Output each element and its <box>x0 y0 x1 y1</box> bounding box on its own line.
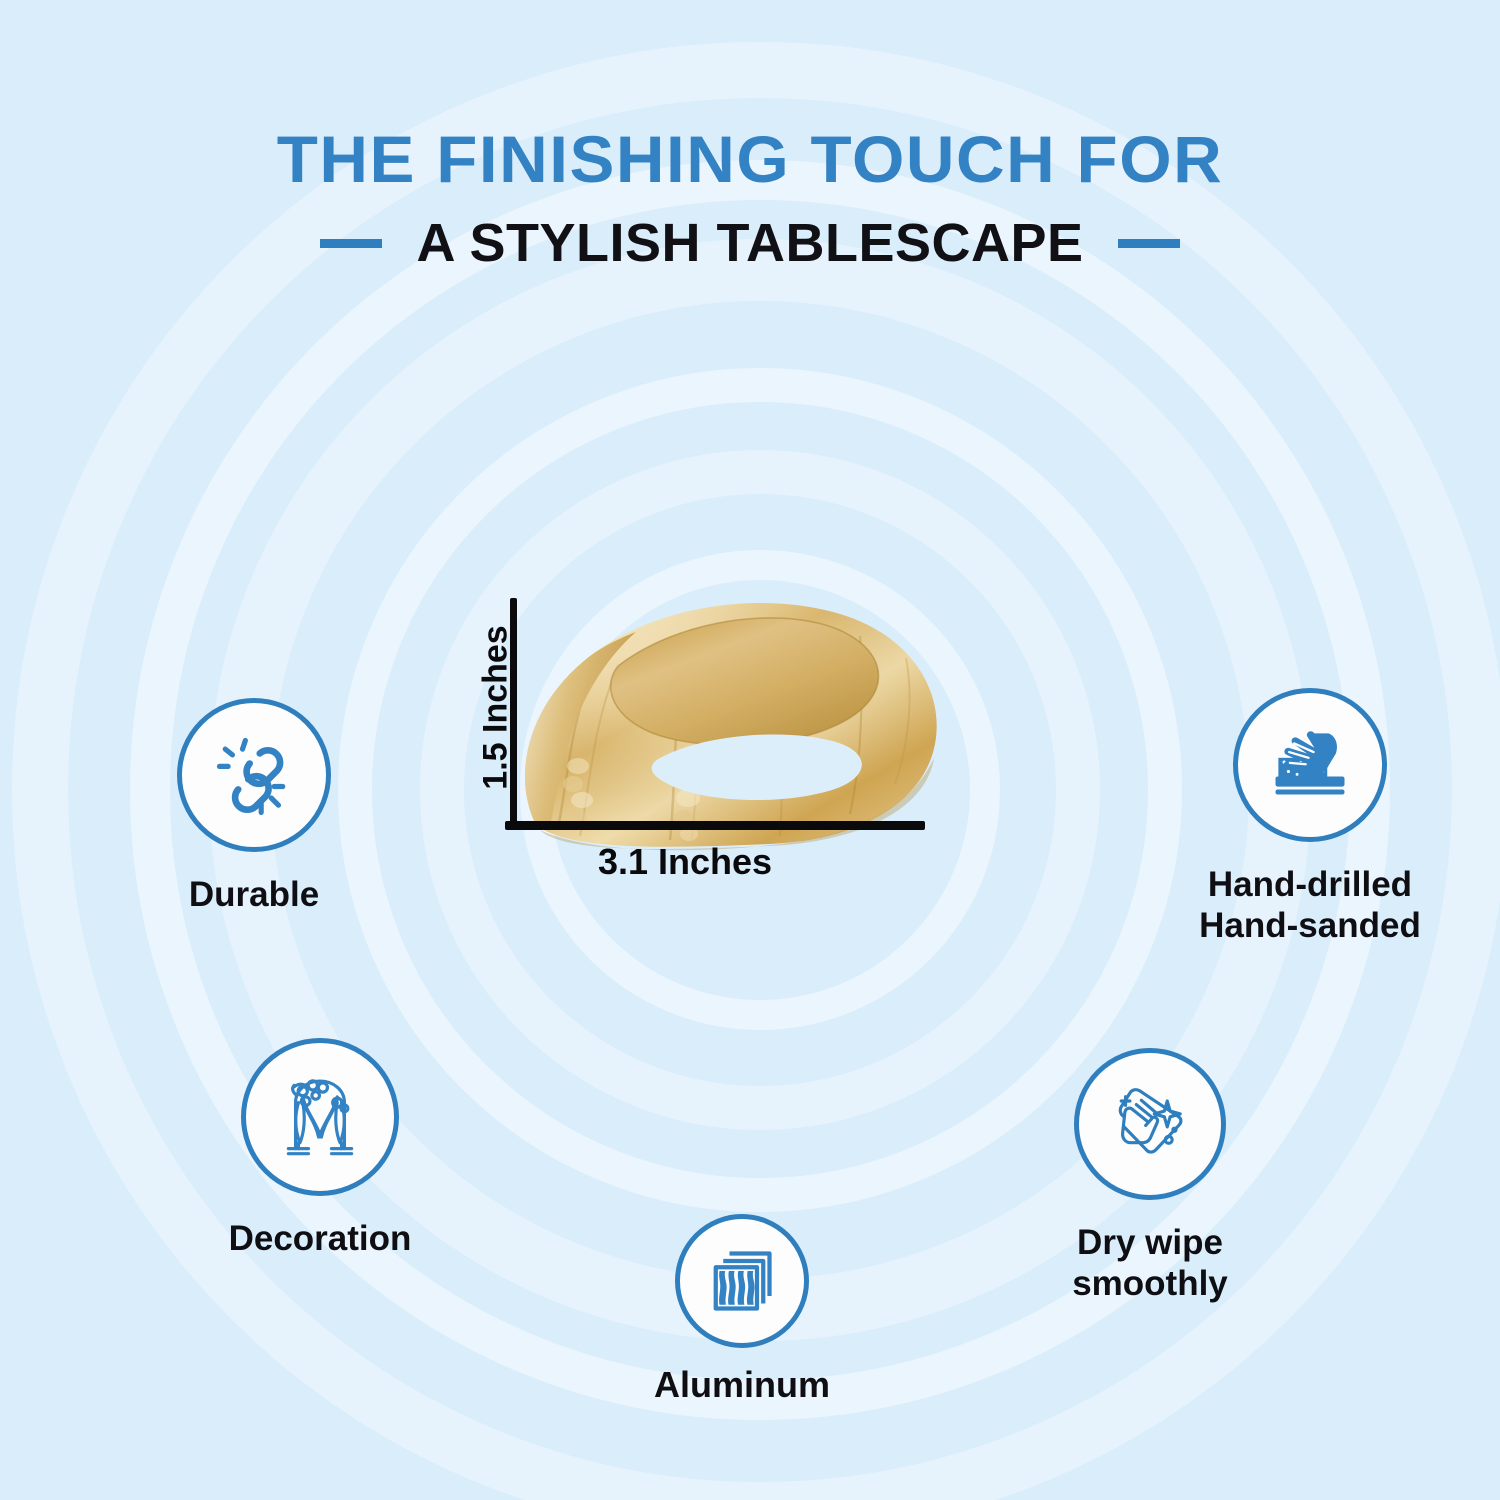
chain-link-icon <box>208 729 300 821</box>
feature-durable: Durable <box>104 698 404 915</box>
feature-dry-wipe-smoothly: Dry wipe smoothly <box>990 1048 1310 1305</box>
feature-label: Aluminum <box>654 1364 830 1406</box>
feature-icon-circle <box>675 1214 809 1348</box>
product-infographic: THE FINISHING TOUCH FOR A STYLISH TABLES… <box>0 0 1500 1500</box>
height-dimension-label: 1.5 Inches <box>477 608 516 808</box>
hand-sanding-icon <box>1264 719 1356 811</box>
feature-decoration: Decoration <box>150 1038 490 1259</box>
header: THE FINISHING TOUCH FOR A STYLISH TABLES… <box>0 126 1500 270</box>
page-subtitle: A STYLISH TABLESCAPE <box>416 216 1083 270</box>
dash-left-icon <box>320 239 382 248</box>
horizontal-dimension-line <box>505 821 925 830</box>
hand-wiping-cloth-icon <box>1104 1078 1196 1170</box>
feature-icon-circle <box>1074 1048 1226 1200</box>
feature-hand-drilled-hand-sanded: Hand-drilled Hand-sanded <box>1120 688 1500 947</box>
feature-label: Decoration <box>229 1218 412 1259</box>
feature-icon-circle <box>241 1038 399 1196</box>
dash-right-icon <box>1118 239 1180 248</box>
feature-label: Durable <box>189 874 319 915</box>
feature-icon-circle <box>177 698 331 852</box>
feature-label: Dry wipe smoothly <box>1072 1222 1228 1305</box>
subtitle-row: A STYLISH TABLESCAPE <box>0 216 1500 270</box>
feature-label: Hand-drilled Hand-sanded <box>1199 864 1421 947</box>
wedding-arch-icon <box>274 1071 366 1163</box>
product-dimension-block: 1.5 Inches 3.1 Inches <box>440 578 960 898</box>
page-title: THE FINISHING TOUCH FOR <box>0 126 1500 192</box>
width-dimension-label: 3.1 Inches <box>440 841 930 883</box>
metal-sheets-icon <box>702 1241 782 1321</box>
feature-aluminum: Aluminum <box>592 1214 892 1406</box>
feature-icon-circle <box>1233 688 1387 842</box>
